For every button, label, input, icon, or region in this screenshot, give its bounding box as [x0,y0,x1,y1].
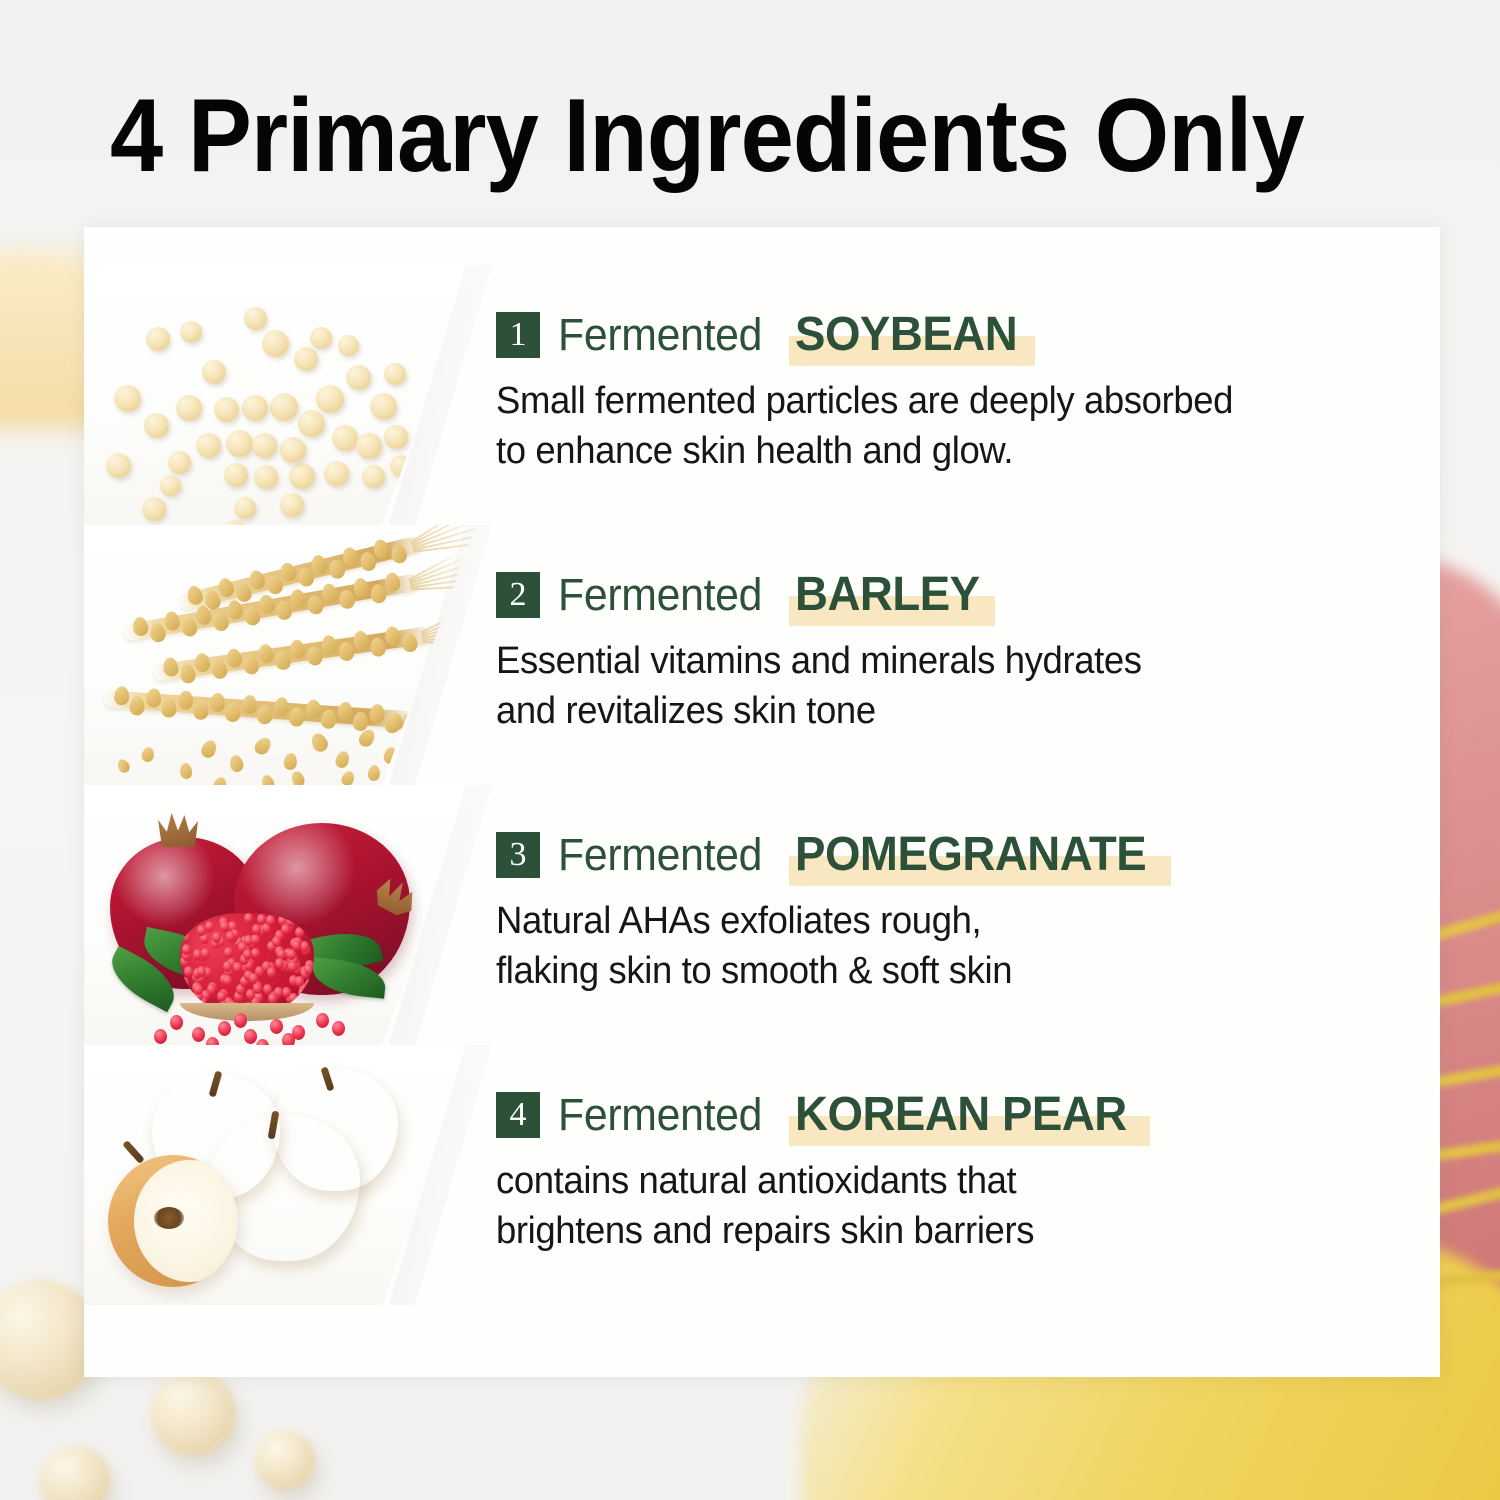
soybean [262,330,289,357]
soybean [280,437,306,463]
pomegranate-crown [158,813,198,847]
pomegranate-aril [244,1029,257,1044]
barley-grain [306,594,324,615]
barley-grain [257,705,273,725]
pomegranate-aril [197,925,206,936]
ingredient-description: contains natural antioxidants thatbright… [496,1156,1360,1256]
ingredient-description-line: contains natural antioxidants that [496,1156,1360,1206]
barley-grain [212,611,230,632]
pomegranate-aril [294,915,303,926]
pomegranate-aril [292,940,301,951]
barley-grain [352,577,370,598]
barley-grain [283,752,298,771]
ingredient-name-wrap: SOYBEAN [795,307,1029,362]
ingredient-name-wrap: BARLEY [795,567,989,622]
ingredient-name: BARLEY [795,567,980,622]
soybean [168,451,191,474]
soybean [356,433,382,459]
ingredient-name: POMEGRANATE [795,827,1146,882]
soybean [114,385,141,412]
soybean [270,393,298,421]
soybean [202,360,226,384]
soybean [144,413,169,438]
barley-grain [289,707,305,727]
soybean [142,497,166,521]
barley-grain [225,703,241,723]
soybean [390,455,412,477]
barley-grain [321,583,339,604]
barley-grain [367,765,380,782]
barley-grain [320,709,336,729]
soybean [160,475,181,496]
soybean [242,395,268,421]
pomegranate-aril [332,1021,345,1036]
ingredient-number-badge: 3 [496,832,540,878]
ingredient-row: 2FermentedBARLEYEssential vitamins and m… [84,525,1440,785]
barley-grain [352,711,368,731]
barley-grain [260,774,276,785]
ingredient-prefix: Fermented [558,309,762,361]
barley-grain [289,588,307,609]
soybean [346,365,371,390]
barley-grain [369,583,387,604]
ingredient-text: 1FermentedSOYBEANSmall fermented particl… [496,307,1396,476]
pomegranate-aril [170,1015,183,1030]
barley-grain [243,605,261,626]
pomegranate-aril [304,964,313,975]
soybean [338,335,359,356]
barley-awn [403,721,476,725]
barley-grain [274,650,291,671]
barley-grain [180,616,198,637]
barley-grain [401,632,418,653]
ingredient-row: 3FermentedPOMEGRANATENatural AHAs exfoli… [84,785,1440,1045]
ingredient-description-line: brightens and repairs skin barriers [496,1206,1360,1256]
barley-grain [185,584,204,606]
ingredient-number-badge: 1 [496,312,540,358]
ingredient-description-line: and revitalizes skin tone [496,686,1360,736]
ingredient-number-badge: 2 [496,572,540,618]
barley-grain [338,589,356,610]
barley-grain [179,663,196,684]
soybean [146,327,170,351]
pomegranate-rind [180,1003,314,1021]
barley-grain [252,735,274,758]
pomegranate-aril [288,961,297,972]
soybean [252,433,277,458]
soybean [324,461,349,486]
ingredient-name: KOREAN PEAR [795,1087,1127,1142]
soybean [196,433,221,458]
pomegranate-photo [84,785,476,1045]
korean-pear-photo [84,1045,476,1305]
pomegranate-aril [246,989,255,1000]
barley-grain [275,600,293,621]
ingredient-description-line: Small fermented particles are deeply abs… [496,376,1360,426]
barley-grain [114,686,130,706]
barley-grain [372,538,391,560]
soybean [294,347,318,371]
barley-grain [199,738,219,760]
barley-grain [337,701,353,721]
pomegranate-aril [249,973,258,984]
barley-grain [194,652,211,673]
barley-grain [258,594,276,615]
barley-grain [241,695,257,715]
barley-grain [389,543,408,565]
infographic-root: 4 Primary Ingredients Only 1FermentedSOY… [0,0,1500,1500]
ingredient-name-wrap: KOREAN PEAR [795,1087,1144,1142]
barley-awn [421,614,476,637]
pomegranate-aril [267,967,276,978]
soybean [310,327,332,349]
pomegranate-aril [224,947,233,958]
pomegranate-aril [226,931,235,942]
barley-grain [384,571,402,592]
pomegranate-aril [298,988,307,999]
soybean [224,463,248,487]
background-soybean [255,1430,315,1490]
pomegranate-aril [275,958,284,969]
ingredient-prefix: Fermented [558,829,762,881]
ingredient-prefix: Fermented [558,569,762,621]
barley-grain [226,599,244,620]
pomegranate-aril [181,914,190,925]
barley-grain [129,696,145,716]
pomegranate-aril [289,993,298,1004]
barley-grain [306,646,323,667]
ingredient-headline: 1FermentedSOYBEAN [496,307,1396,362]
pomegranate-aril [154,1029,167,1044]
ingredient-text: 2FermentedBARLEYEssential vitamins and m… [496,567,1396,736]
barley-grain [225,648,242,669]
pomegranate-aril [316,1013,329,1028]
korean-pear-half [108,1155,238,1287]
barley-grain [211,659,228,680]
pomegranate-aril [220,921,229,932]
soybean [362,465,385,488]
barley-photo-art [84,525,476,785]
barley-awn [421,609,476,636]
soybean-photo [84,265,476,525]
barley-awn [403,723,476,735]
barley-awn [403,700,462,716]
ingredient-description: Natural AHAs exfoliates rough,flaking sk… [496,896,1360,996]
barley-grain [132,616,150,637]
ingredient-text: 4FermentedKOREAN PEARcontains natural an… [496,1087,1396,1256]
soybean [180,321,202,343]
ingredient-name: SOYBEAN [795,307,1017,362]
soybean [332,425,358,451]
ingredient-description: Essential vitamins and minerals hydrates… [496,636,1360,736]
pomegranate-aril [223,975,232,986]
ingredient-list: 1FermentedSOYBEANSmall fermented particl… [84,227,1440,1377]
barley-awn [403,725,476,747]
pomegranate-aril [234,1013,247,1028]
pomegranate-aril [305,979,314,990]
pomegranate-aril [272,936,281,947]
barley-grain [341,546,360,568]
barley-grain [384,625,401,646]
soybean [280,493,304,517]
barley-grain [242,654,259,675]
pomegranate-aril [287,949,296,960]
pomegranate-aril [217,991,226,1002]
barley-grain [352,630,369,651]
ingredient-description: Small fermented particles are deeply abs… [496,376,1360,476]
pomegranate-aril [182,988,191,999]
ingredient-row: 4FermentedKOREAN PEARcontains natural an… [84,1045,1440,1305]
soybean [214,397,239,422]
pomegranate-aril [244,913,253,924]
soybean [226,430,253,457]
barley-grain [369,637,386,658]
pomegranate-photo-art [84,785,476,1045]
soybean [254,465,278,489]
pomegranate-aril [295,976,304,987]
barley-grain [383,746,399,765]
ingredient-description-line: flaking skin to smooth & soft skin [496,946,1360,996]
ingredient-headline: 3FermentedPOMEGRANATE [496,827,1396,882]
barley-grain [338,641,355,662]
pomegranate-aril [251,948,260,959]
page-title: 4 Primary Ingredients Only [110,82,1324,191]
barley-photo [84,525,476,785]
barley-grain [248,569,267,591]
barley-grain [179,762,193,780]
ingredient-headline: 2FermentedBARLEY [496,567,1396,622]
pomegranate-aril [180,977,189,988]
soybean [298,410,325,437]
barley-grain [334,749,352,769]
background-soybean [150,1370,236,1456]
soybean-photo-art [84,265,476,525]
barley-grain [290,769,307,785]
barley-grain [310,553,329,575]
pomegranate-aril [263,984,272,995]
pomegranate-aril [194,984,203,995]
barley-grain [193,700,209,720]
pomegranate-aril [218,1021,231,1036]
soybean [384,425,408,449]
barley-grain [257,643,274,664]
barley-grain [279,561,298,583]
pomegranate-aril [270,1019,283,1034]
soybean [106,453,131,478]
ingredient-text: 3FermentedPOMEGRANATENatural AHAs exfoli… [496,827,1396,996]
barley-grain [211,775,228,785]
barley-grain [216,577,235,599]
barley-grain [161,698,177,718]
ingredient-number-badge: 4 [496,1092,540,1138]
ingredients-card: 1FermentedSOYBEANSmall fermented particl… [84,227,1440,1377]
barley-grain [340,769,357,785]
ingredient-prefix: Fermented [558,1089,762,1141]
barley-grain [115,757,132,775]
barley-grain [305,699,321,719]
barley-grain [369,704,385,724]
barley-grain [140,746,155,763]
pomegranate-aril [201,948,210,959]
barley-grain [146,688,162,708]
barley-grain [320,634,337,655]
pomegranate-aril [252,924,261,935]
barley-grain [162,657,179,678]
pomegranate-aril [282,1033,295,1045]
soybean [289,463,315,489]
pomegranate-aril [181,932,190,943]
barley-grain [177,690,193,710]
barley-grain [209,692,225,712]
pomegranate-aril [266,915,275,926]
barley-grain [149,622,167,643]
barley-spike [103,690,413,729]
soybean [176,395,202,421]
soybean [244,307,267,330]
pomegranate-cut [180,913,314,1017]
pomegranate-aril [206,1037,219,1045]
pomegranate-aril [192,1027,205,1042]
ingredient-row: 1FermentedSOYBEANSmall fermented particl… [84,265,1440,525]
ingredient-description-line: to enhance skin health and glow. [496,426,1360,476]
barley-grain [309,731,331,755]
soybean [316,385,344,413]
barley-grain [163,610,181,631]
ingredient-description-line: Natural AHAs exfoliates rough, [496,896,1360,946]
ingredient-description-line: Essential vitamins and minerals hydrates [496,636,1360,686]
pomegranate-aril [205,921,214,932]
korean-pear-core [154,1207,184,1229]
ingredient-headline: 4FermentedKOREAN PEAR [496,1087,1396,1142]
soybean [234,497,256,519]
barley-awn [403,713,476,720]
soybean [384,363,406,385]
korean-pear-flesh [134,1160,238,1281]
korean-pear-photo-art [84,1045,476,1305]
barley-grain [289,639,306,660]
pomegranate-aril [281,924,290,935]
barley-awn [403,706,471,719]
barley-grain [228,754,244,773]
ingredient-name-wrap: POMEGRANATE [795,827,1165,882]
soybean [370,393,397,420]
barley-grain [273,697,289,717]
korean-pear-stem [122,1140,145,1164]
